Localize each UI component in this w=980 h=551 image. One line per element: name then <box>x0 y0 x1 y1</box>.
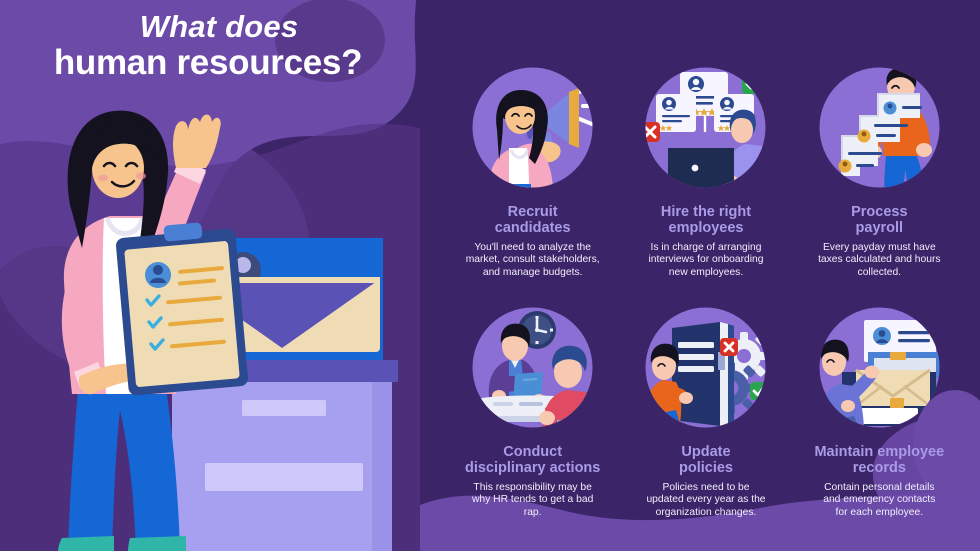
title-line-2: human resources? <box>18 44 398 82</box>
card-conduct-disciplinary-actions[interactable]: Conduct disciplinary actions This respon… <box>446 300 619 540</box>
infographic-canvas: What does human resources? <box>0 0 980 551</box>
card-description: Is in charge of arranging interviews for… <box>648 242 763 279</box>
megaphone-recruiter-icon <box>465 60 600 195</box>
card-description: Contain personal details and emergency c… <box>823 482 935 519</box>
card-title: Maintain employee records <box>814 444 944 476</box>
policy-book-gears-icon <box>638 300 773 435</box>
card-description: This responsibility may be why HR tends … <box>472 482 593 519</box>
card-process-payroll[interactable]: Process payroll Every payday must have t… <box>793 60 966 300</box>
card-description: Policies need to be updated every year a… <box>646 482 765 519</box>
hr-responsibility-cards: Recruit candidates You'll need to analyz… <box>446 60 966 540</box>
payroll-scroll-icon <box>812 60 947 195</box>
card-title: Conduct disciplinary actions <box>465 444 600 476</box>
card-recruit-candidates[interactable]: Recruit candidates You'll need to analyz… <box>446 60 619 300</box>
card-title: Process payroll <box>851 204 907 236</box>
card-update-policies[interactable]: Update policies Policies need to be upda… <box>619 300 792 540</box>
card-hire-the-right-employees[interactable]: Hire the right employees Is in charge of… <box>619 60 792 300</box>
card-maintain-employee-records[interactable]: Maintain employee records Contain person… <box>793 300 966 540</box>
card-description: Every payday must have taxes calculated … <box>818 242 941 279</box>
meeting-with-clock-icon <box>465 300 600 435</box>
candidate-screening-laptop-icon <box>638 60 773 195</box>
card-title: Hire the right employees <box>661 204 751 236</box>
title-line-1: What does <box>40 10 398 44</box>
card-title: Recruit candidates <box>495 204 571 236</box>
card-title: Update policies <box>679 444 733 476</box>
records-filing-icon <box>812 300 947 435</box>
page-title: What does human resources? <box>18 10 398 92</box>
clipboard <box>115 222 248 396</box>
card-description: You'll need to analyze the market, consu… <box>466 242 600 279</box>
